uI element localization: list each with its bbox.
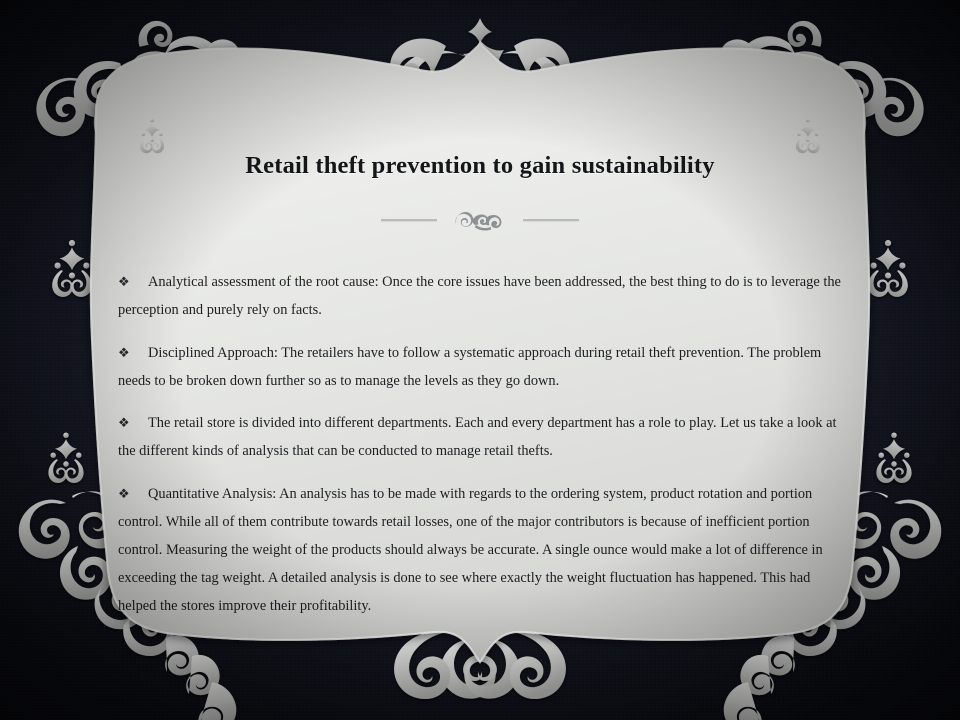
slide-vignette	[0, 0, 960, 720]
presentation-slide: Retail theft prevention to gain sustaina…	[0, 0, 960, 720]
